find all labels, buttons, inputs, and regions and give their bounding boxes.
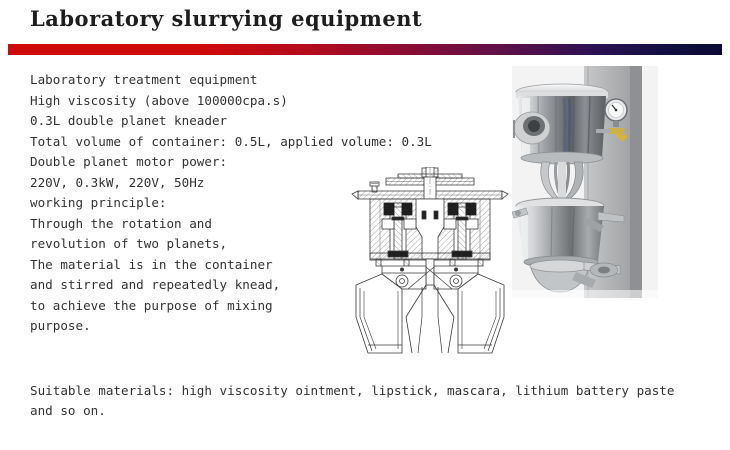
spec-line: Total volume of container: 0.5L, applied… [30, 132, 360, 153]
spec-line: and stirred and repeatedly knead, [30, 275, 360, 296]
note-line: Suitable materials: high viscosity ointm… [30, 381, 710, 401]
planetary-mixer-photo [512, 66, 658, 311]
spec-line: purpose. [30, 316, 360, 337]
spec-line: Laboratory treatment equipment [30, 70, 360, 91]
spec-line: Double planet motor power: [30, 152, 360, 173]
spec-line: to achieve the purpose of mixing [30, 296, 360, 317]
spec-line: working principle: [30, 193, 360, 214]
page-root: Laboratory slurrying equipment Laborator… [0, 0, 730, 450]
spec-line: 0.3L double planet kneader [30, 111, 360, 132]
double-planetary-mixer-cross-section-drawing [344, 167, 516, 357]
spec-line: revolution of two planets, [30, 234, 360, 255]
page-title: Laboratory slurrying equipment [30, 6, 422, 31]
spec-line: High viscosity (above 100000cpa.s) [30, 91, 360, 112]
note-line: and so on. [30, 401, 710, 421]
spec-line: Through the rotation and [30, 214, 360, 235]
gradient-divider [8, 44, 722, 55]
specification-text-block: Laboratory treatment equipment High visc… [30, 70, 360, 337]
spec-line: 220V, 0.3kW, 220V, 50Hz [30, 173, 360, 194]
spec-line: The material is in the container [30, 255, 360, 276]
suitable-materials-note: Suitable materials: high viscosity ointm… [30, 381, 710, 420]
